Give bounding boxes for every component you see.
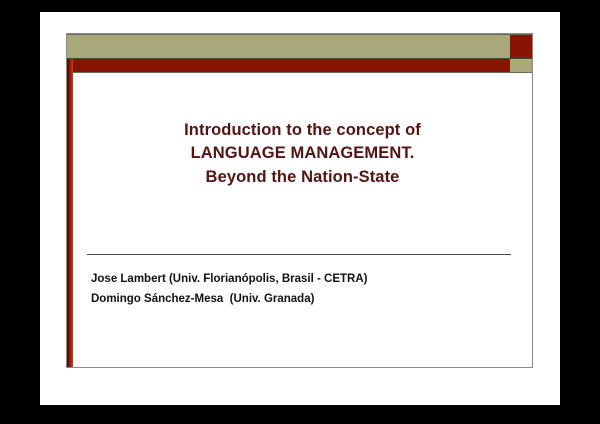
slide-authors: Jose Lambert (Univ. Florianópolis, Brasi…	[91, 269, 512, 309]
banner-bottom-olive-cap	[510, 59, 532, 73]
slide-title-line-2: LANGUAGE MANAGEMENT.	[73, 142, 532, 165]
title-divider-rule	[87, 254, 511, 255]
slide-decor-banner	[67, 34, 532, 73]
slide-body: Introduction to the concept of LANGUAGE …	[73, 73, 532, 367]
banner-bottom-row	[67, 59, 532, 73]
slide-title-line-1: Introduction to the concept of	[73, 119, 532, 142]
banner-hairline-middle	[67, 58, 532, 59]
slide-title: Introduction to the concept of LANGUAGE …	[73, 119, 532, 189]
slide-title-line-3: Beyond the Nation-State	[73, 166, 532, 189]
author-line-1: Jose Lambert (Univ. Florianópolis, Brasi…	[91, 269, 512, 289]
author-line-2: Domingo Sánchez-Mesa (Univ. Granada)	[91, 289, 512, 309]
banner-hairline-top	[67, 34, 532, 35]
slide-canvas: Introduction to the concept of LANGUAGE …	[66, 33, 533, 368]
banner-top-olive-band	[67, 34, 510, 59]
banner-top-red-cap	[510, 34, 532, 59]
banner-bottom-red-band	[67, 59, 510, 73]
paper-sheet: Introduction to the concept of LANGUAGE …	[40, 12, 560, 405]
banner-top-row	[67, 34, 532, 59]
